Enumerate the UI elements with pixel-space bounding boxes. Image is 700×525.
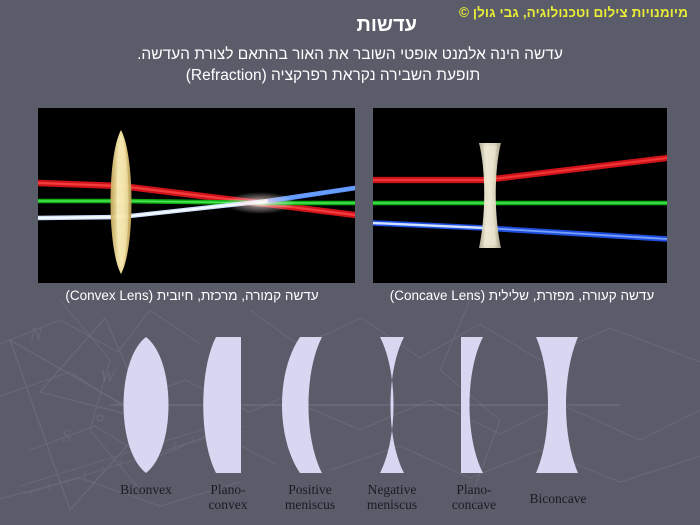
convex-lens-photo xyxy=(38,108,355,283)
lens-shape-labels: Biconvex Plano- convex Positive meniscus… xyxy=(0,482,700,525)
subtitle-line-1: עדשה הינה אלמנט אופטי השובר את האור בהתא… xyxy=(0,45,700,66)
convex-lens-caption: עדשה קמורה, מרכזת, חיובית (Convex Lens) xyxy=(22,288,362,303)
copyright-notice: מיומנויות צילום וטכנולוגיה, גבי גולן © xyxy=(459,5,688,20)
lens-shape-biconvex xyxy=(124,337,169,473)
concave-lens-caption: עדשה קעורה, מפזרת, שלילית (Concave Lens) xyxy=(362,288,682,303)
page-title: עדשות xyxy=(357,14,418,37)
lens-shape-diagram xyxy=(0,330,700,480)
subtitle-text: עדשה הינה אלמנט אופטי השובר את האור בהתא… xyxy=(0,45,700,86)
lens-label-plano-concave: Plano- concave xyxy=(426,482,522,512)
concave-lens-photo xyxy=(373,108,667,283)
lens-label-biconcave: Biconcave xyxy=(510,491,606,506)
lens-shape-plano-convex xyxy=(203,337,241,473)
subtitle-line-2: תופעת השבירה נקראת רפרקציה (Refraction) xyxy=(0,66,700,87)
slide-canvas: N S E W מיומנויות צילום וטכנולוגיה, גבי … xyxy=(0,0,700,525)
